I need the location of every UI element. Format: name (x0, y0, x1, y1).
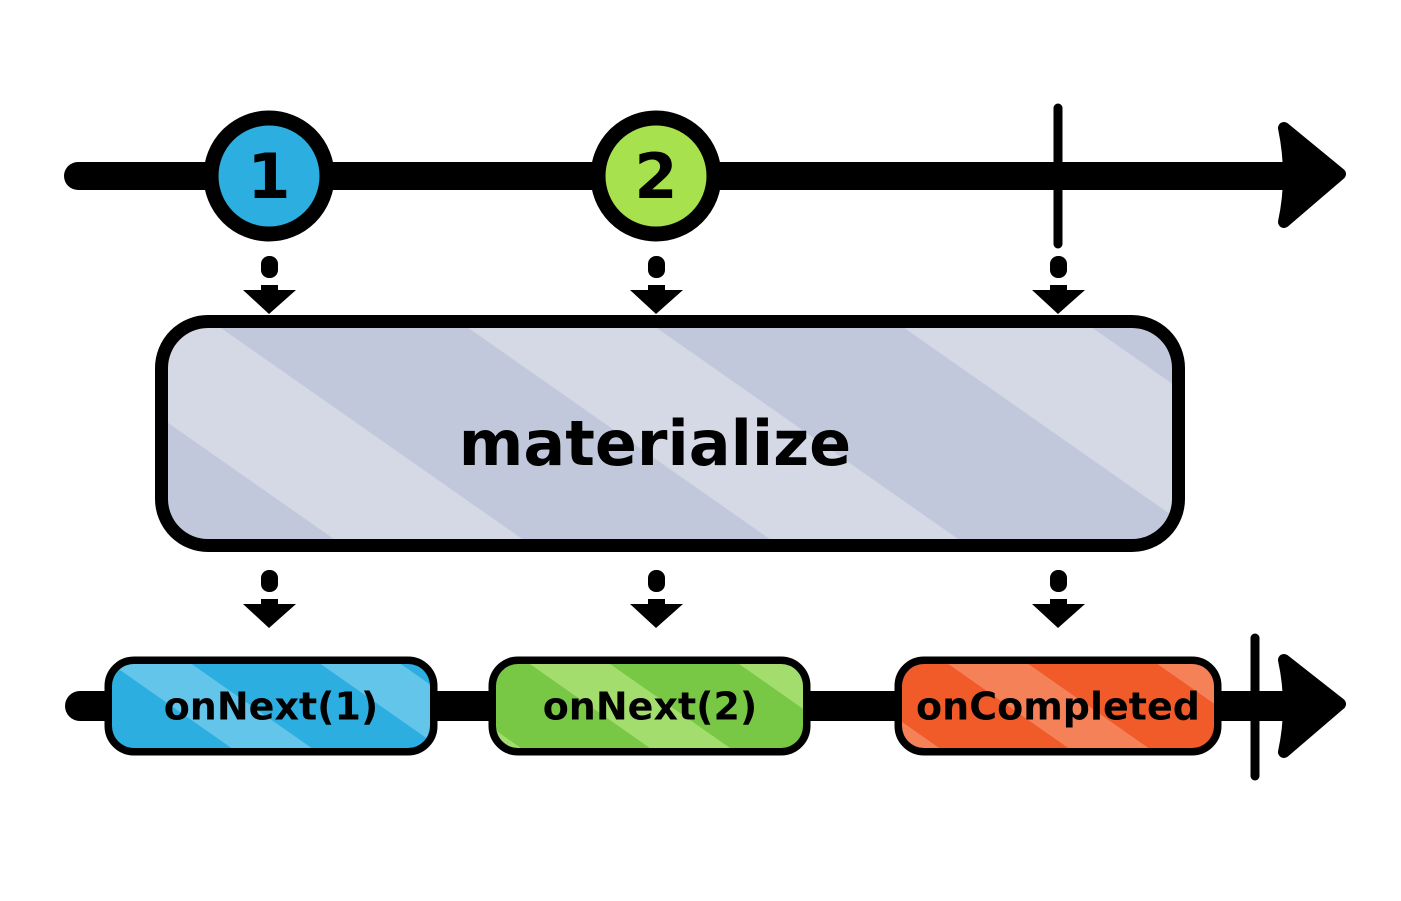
connector-arrow-3 (1032, 256, 1085, 314)
connector-arrow-5 (630, 570, 683, 628)
connector-arrow-2 (630, 256, 683, 314)
output-timeline-group: onNext(1) onNext(2) onCompleted (80, 638, 1340, 776)
output-timeline-arrowhead (1284, 660, 1340, 752)
connector-arrows-lower (243, 570, 1085, 628)
marble-diagram-svg: 1 2 (0, 0, 1401, 901)
output-notification-3-label: onCompleted (916, 685, 1200, 729)
source-timeline-group: 1 2 (78, 108, 1340, 244)
source-timeline-arrowhead (1284, 128, 1340, 222)
output-notification-1[interactable]: onNext(1) (112, 664, 430, 748)
source-marble-2-label: 2 (634, 140, 677, 213)
output-notification-1-label: onNext(1) (164, 685, 379, 729)
output-notification-2-label: onNext(2) (543, 685, 758, 729)
operator-box-label: materialize (459, 407, 851, 480)
connector-arrow-1 (243, 256, 296, 314)
source-marble-2[interactable]: 2 (598, 118, 714, 234)
output-notification-2[interactable]: onNext(2) (496, 664, 803, 748)
source-marble-1[interactable]: 1 (211, 118, 327, 234)
marble-diagram-canvas: 1 2 (0, 0, 1401, 901)
output-notification-3[interactable]: onCompleted (902, 664, 1214, 748)
operator-box[interactable]: materialize (168, 328, 1172, 539)
source-marble-1-label: 1 (247, 140, 290, 213)
connector-arrow-6 (1032, 570, 1085, 628)
connector-arrow-4 (243, 570, 296, 628)
connector-arrows-upper (243, 256, 1085, 314)
